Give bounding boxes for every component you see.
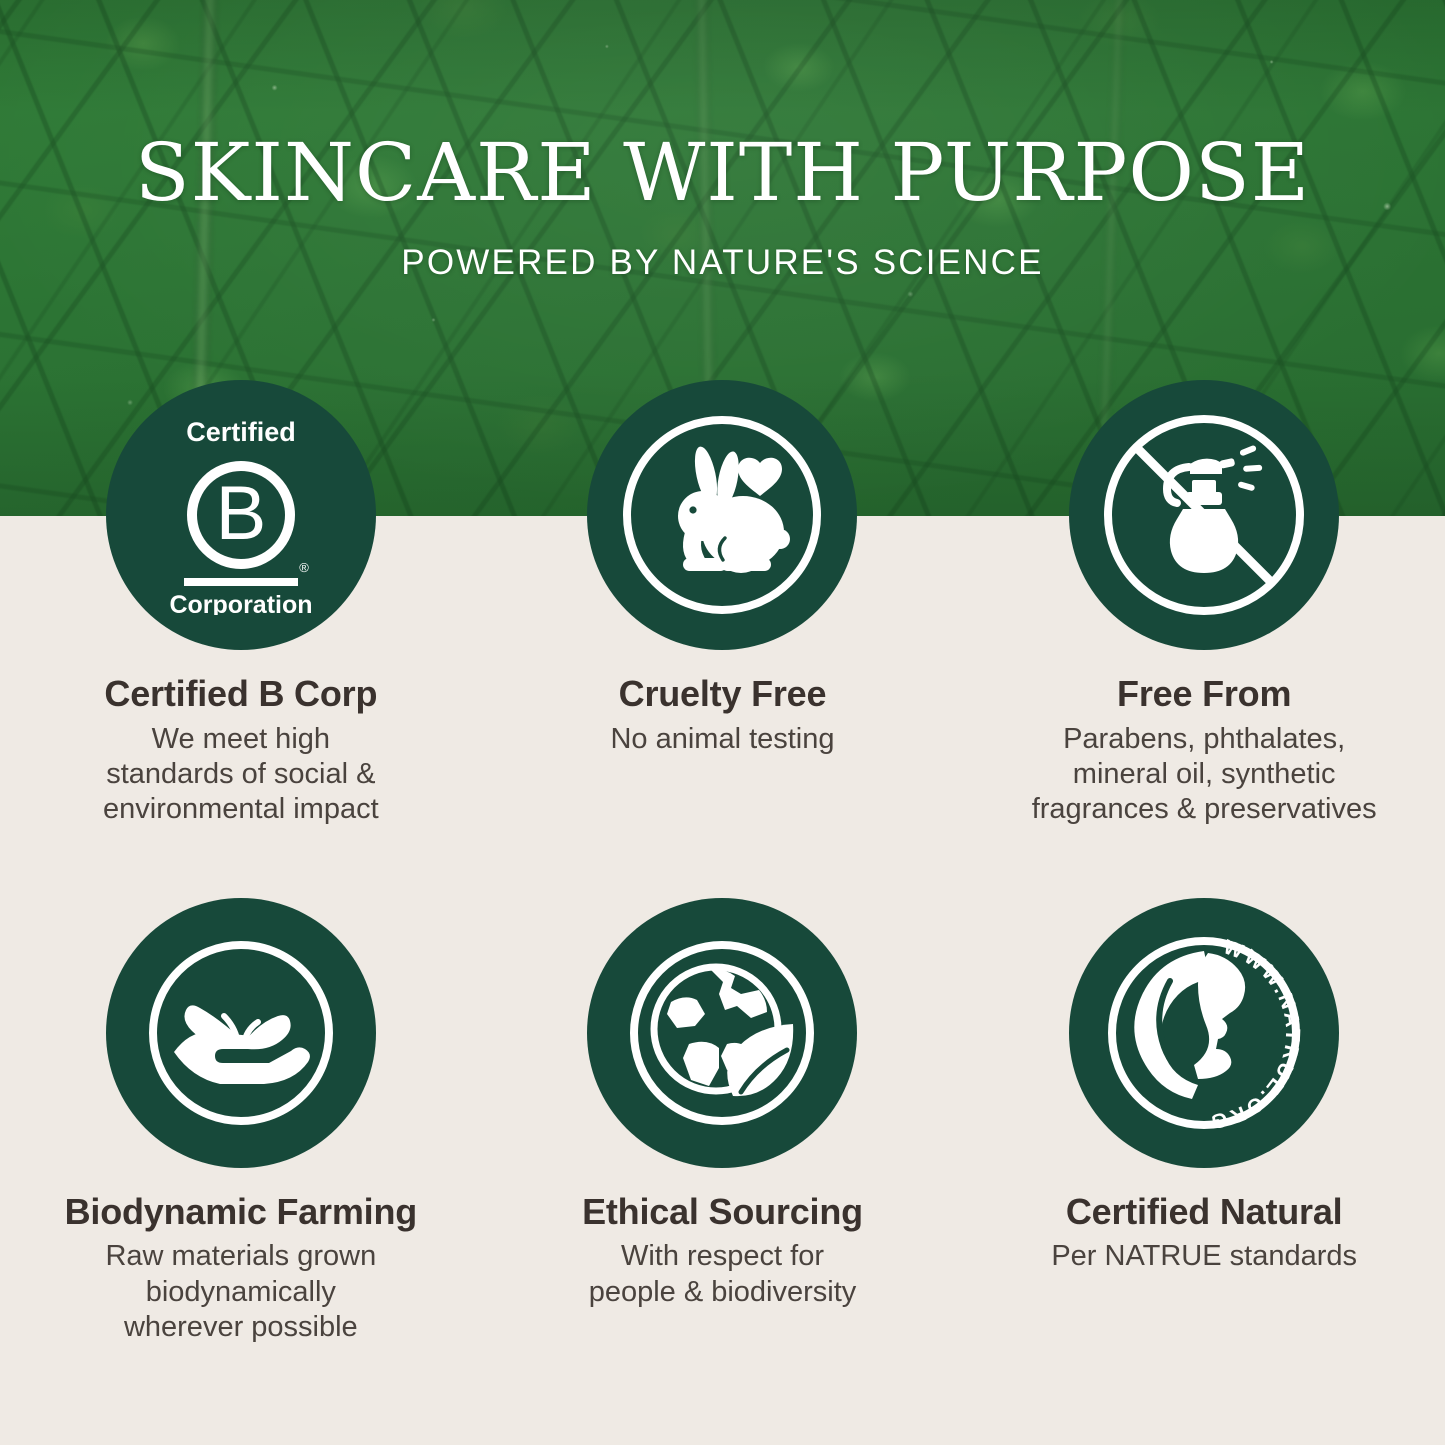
biodynamic-farming-badge bbox=[106, 898, 376, 1168]
badge-description: Parabens, phthalates, mineral oil, synth… bbox=[1032, 722, 1377, 828]
rabbit-eye bbox=[690, 506, 697, 513]
badge-title: Free From bbox=[1117, 674, 1291, 714]
leaf-overlay bbox=[728, 1024, 794, 1096]
badge-title: Certified Natural bbox=[1066, 1192, 1343, 1232]
badge-description-line: Per NATRUE standards bbox=[1051, 1240, 1357, 1272]
badge-description: Per NATRUE standards bbox=[1051, 1239, 1357, 1274]
badge-title: Biodynamic Farming bbox=[65, 1192, 417, 1232]
badge-title: Cruelty Free bbox=[619, 674, 827, 714]
badge-description: Raw materials grown biodynamically where… bbox=[105, 1239, 376, 1345]
badge-description-line: With respect for bbox=[621, 1240, 824, 1272]
b-corp-top-label: Certified bbox=[186, 417, 296, 447]
globe-with-leaf-icon bbox=[615, 926, 829, 1140]
badge-description-line: Raw materials grown bbox=[105, 1240, 376, 1272]
hero-copy: SKINCARE WITH PURPOSE POWERED BY NATURE'… bbox=[0, 0, 1445, 283]
ethical-sourcing-badge bbox=[587, 898, 857, 1168]
badge-description-line: fragrances & preservatives bbox=[1032, 793, 1377, 825]
b-corp-bottom-label: Corporation bbox=[169, 591, 312, 615]
badge-description-line: We meet high bbox=[152, 723, 330, 755]
page-title: SKINCARE WITH PURPOSE bbox=[0, 133, 1445, 213]
badge-description-line: No animal testing bbox=[610, 723, 834, 755]
badge-card-cruelty-free: Cruelty Free No animal testing bbox=[482, 380, 964, 828]
b-corp-registered-mark: ® bbox=[299, 560, 309, 575]
badge-description-line: people & biodiversity bbox=[589, 1276, 857, 1308]
b-corp-divider-rule bbox=[184, 578, 298, 586]
certified-natural-badge: WWW.NATRUE.ORG bbox=[1069, 898, 1339, 1168]
badge-description-line: standards of social & bbox=[106, 758, 375, 790]
badge-card-free-from: Free From Parabens, phthalates, mineral … bbox=[963, 380, 1445, 828]
badge-card-ethical-sourcing: Ethical Sourcing With respect for people… bbox=[482, 890, 964, 1346]
hand-holding-sprout-icon bbox=[134, 926, 348, 1140]
badge-title: Certified B Corp bbox=[104, 674, 377, 714]
certification-grid: Certified B ® Corporation Certified B Co… bbox=[0, 380, 1445, 1345]
free-from-badge bbox=[1069, 380, 1339, 650]
badge-description-line: Parabens, phthalates, bbox=[1063, 723, 1345, 755]
infographic-page: SKINCARE WITH PURPOSE POWERED BY NATURE'… bbox=[0, 0, 1445, 1445]
b-corp-certification-icon: Certified B ® Corporation bbox=[152, 415, 330, 615]
rabbit-heart-cruelty-free-icon bbox=[613, 406, 831, 624]
badge-card-certified-natural: WWW.NATRUE.ORG Certified Natural Per NAT… bbox=[963, 890, 1445, 1346]
badge-description: No animal testing bbox=[610, 722, 834, 757]
badge-description-line: biodynamically bbox=[146, 1276, 336, 1308]
badge-description: We meet high standards of social & envir… bbox=[103, 722, 379, 828]
badge-description: With respect for people & biodiversity bbox=[589, 1239, 857, 1310]
badge-card-certified-b-corp: Certified B ® Corporation Certified B Co… bbox=[0, 380, 482, 828]
cruelty-free-badge bbox=[587, 380, 857, 650]
badge-description-line: environmental impact bbox=[103, 793, 379, 825]
no-spray-bottle-prohibited-icon bbox=[1093, 404, 1315, 626]
b-corp-letter: B bbox=[215, 471, 266, 556]
badge-card-biodynamic-farming: Biodynamic Farming Raw materials grown b… bbox=[0, 890, 482, 1346]
natrue-natural-certification-icon: WWW.NATRUE.ORG bbox=[1096, 925, 1312, 1141]
badge-description-line: mineral oil, synthetic bbox=[1073, 758, 1336, 790]
badge-title: Ethical Sourcing bbox=[582, 1192, 863, 1232]
b-corp-certification-badge: Certified B ® Corporation bbox=[106, 380, 376, 650]
badge-description-line: wherever possible bbox=[124, 1311, 358, 1343]
page-subtitle: POWERED BY NATURE'S SCIENCE bbox=[0, 243, 1445, 283]
